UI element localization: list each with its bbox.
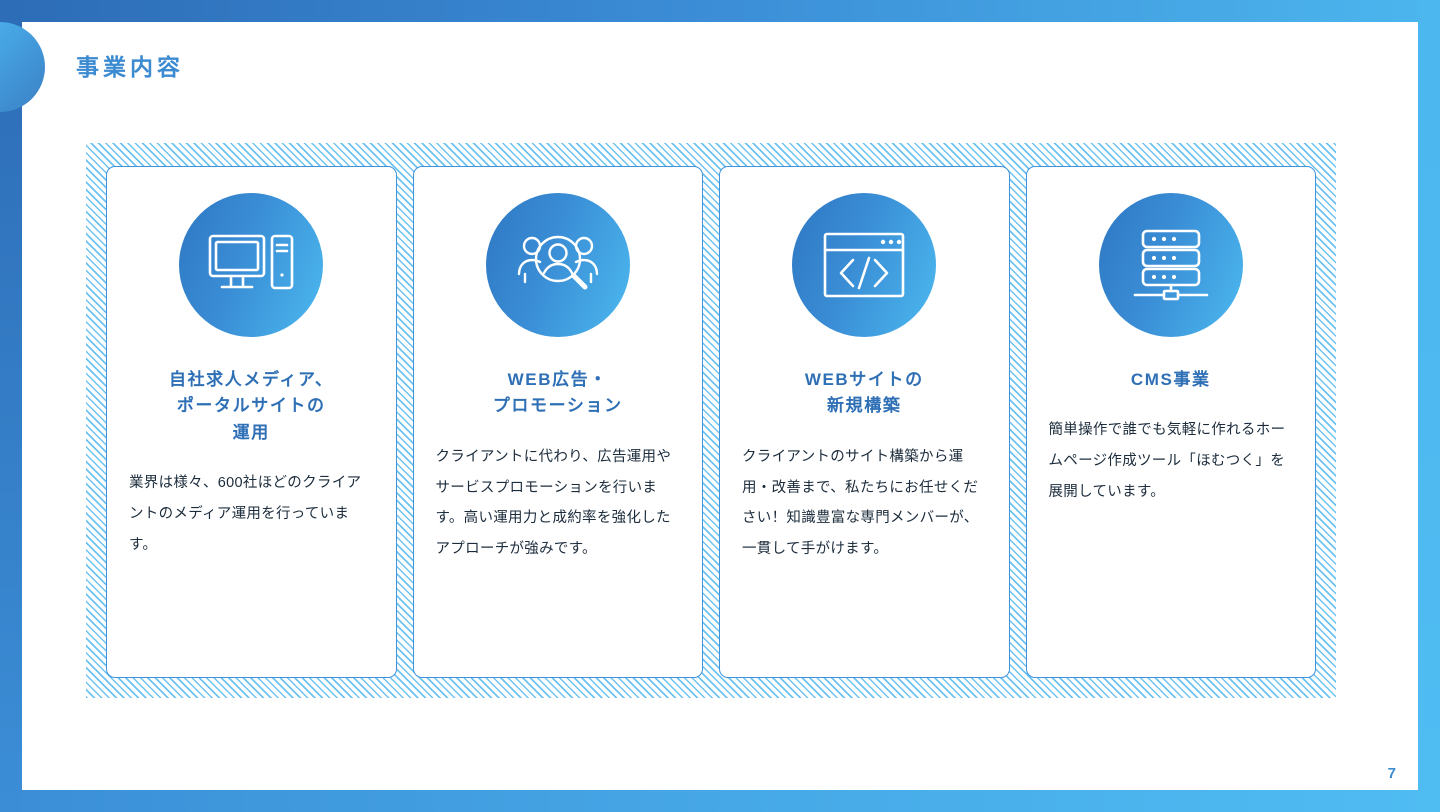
card-title: WEB広告・ プロモーション <box>493 367 623 420</box>
page-number: 7 <box>1388 765 1396 782</box>
left-edge-circle-ornament <box>0 22 45 112</box>
card-body-text: クライアントに代わり、広告運用やサービスプロモーションを行います。高い運用力と成… <box>436 442 681 566</box>
card-title: 自社求人メディア、 ポータルサイトの 運用 <box>169 367 334 446</box>
frame-right-border <box>1418 0 1440 812</box>
page-title: 事業内容 <box>76 48 184 82</box>
card-title: CMS事業 <box>1131 367 1211 393</box>
user-search-icon <box>486 193 630 337</box>
frame-bottom-border <box>0 790 1440 812</box>
server-stack-icon <box>1099 193 1243 337</box>
desktop-computer-icon <box>179 193 323 337</box>
service-card[interactable]: WEB広告・ プロモーション クライアントに代わり、広告運用やサービスプロモーシ… <box>413 166 704 678</box>
card-title: WEBサイトの 新規構築 <box>805 367 924 420</box>
service-card[interactable]: WEBサイトの 新規構築 クライアントのサイト構築から運用・改善まで、私たちにお… <box>719 166 1010 678</box>
code-window-icon <box>792 193 936 337</box>
card-body-text: 業界は様々、600社ほどのクライアントのメディア運用を行っています。 <box>129 468 374 561</box>
card-body-text: クライアントのサイト構築から運用・改善まで、私たちにお任せください！知識豊富な専… <box>742 442 987 566</box>
service-card[interactable]: CMS事業 簡単操作で誰でも気軽に作れるホームページ作成ツール「ほむつく」を展開… <box>1026 166 1317 678</box>
service-card[interactable]: 自社求人メディア、 ポータルサイトの 運用 業界は様々、600社ほどのクライアン… <box>106 166 397 678</box>
slide-canvas: 事業内容 自社求人メディア、 ポータルサイトの 運用 業界は様々、600社ほどの… <box>0 0 1440 812</box>
card-body-text: 簡単操作で誰でも気軽に作れるホームページ作成ツール「ほむつく」を展開しています。 <box>1049 415 1294 508</box>
frame-left-border <box>0 0 22 812</box>
frame-top-border <box>0 0 1440 22</box>
service-cards-row: 自社求人メディア、 ポータルサイトの 運用 業界は様々、600社ほどのクライアン… <box>106 166 1316 678</box>
